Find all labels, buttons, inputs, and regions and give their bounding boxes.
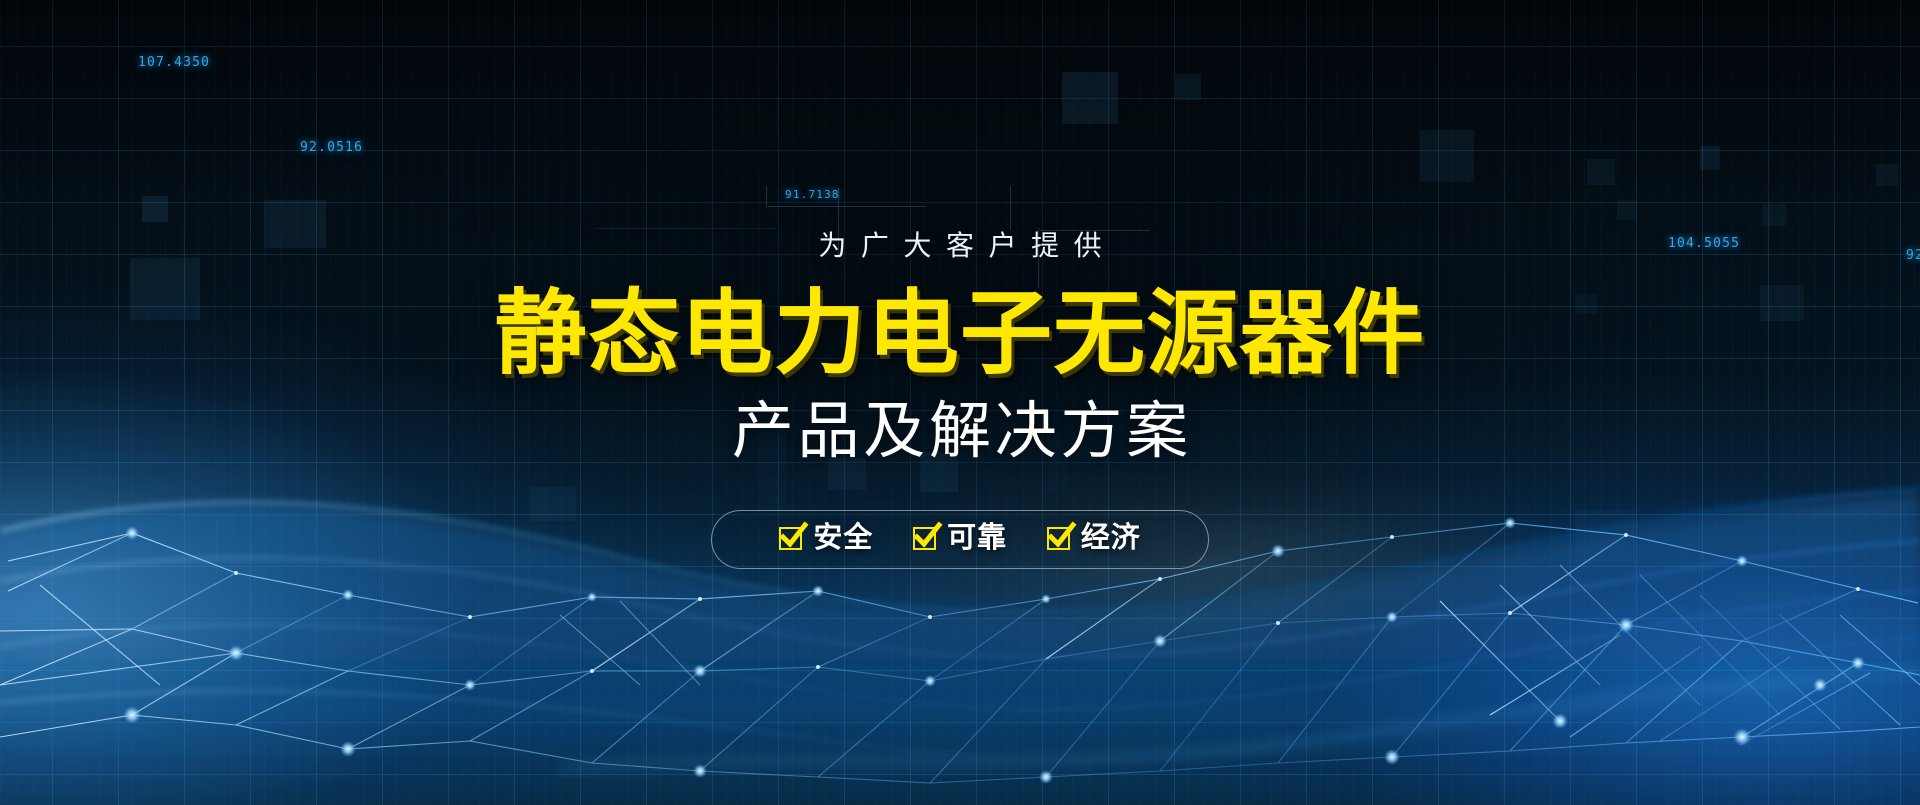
feature-label: 经济 (1081, 524, 1141, 553)
banner-subline: 产品及解决方案 (0, 398, 1920, 466)
banner-headline: 静态电力电子无源器件 (0, 286, 1920, 384)
banner-eyebrow: 为广大客户提供 (0, 232, 1920, 260)
feature-badge-wrap: 安全 可靠 经济 (0, 510, 1920, 569)
feature-item-reliable: 可靠 (900, 524, 1020, 553)
banner-content: 为广大客户提供 静态电力电子无源器件 产品及解决方案 安全 (0, 0, 1920, 569)
hero-banner: 107.4350 92.0516 91.7138 104.5055 92 为广大… (0, 0, 1920, 805)
feature-item-economical: 经济 (1034, 524, 1154, 553)
checkbox-checked-icon (779, 527, 802, 550)
feature-label: 安全 (813, 524, 873, 553)
feature-label: 可靠 (947, 524, 1007, 553)
feature-item-safe: 安全 (766, 524, 886, 553)
feature-badge: 安全 可靠 经济 (711, 510, 1208, 569)
checkbox-checked-icon (913, 527, 936, 550)
checkbox-checked-icon (1047, 527, 1070, 550)
